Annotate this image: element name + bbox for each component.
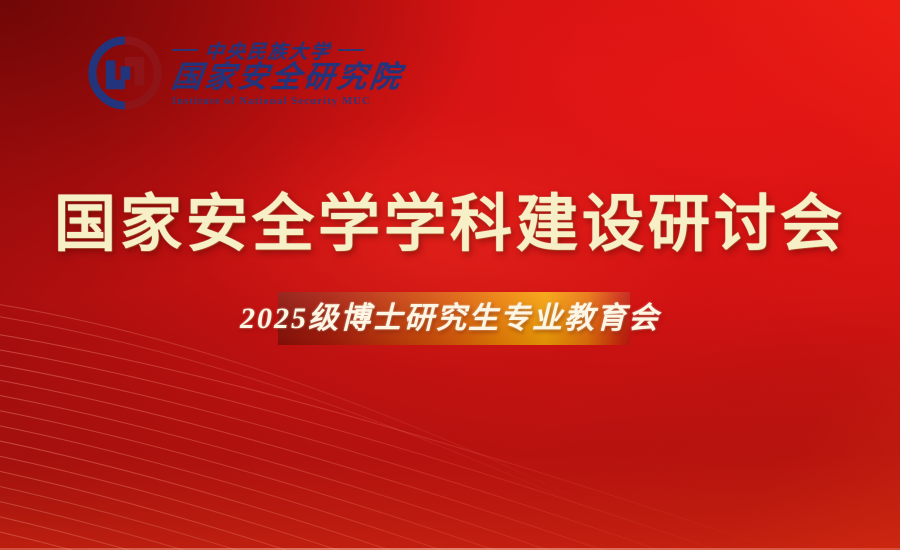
university-name-row: 中央民族大学 (172, 39, 403, 61)
rule-right-icon (338, 49, 364, 51)
institute-emblem-icon (88, 36, 162, 110)
poster-subtitle: 2025级博士研究生专业教育会 (0, 300, 900, 338)
poster-title: 国家安全学学科建设研讨会 (0, 193, 900, 258)
institute-name-english: Institute of National Security MUC (172, 96, 403, 107)
institute-name: 国家安全研究院 (170, 62, 405, 94)
poster-canvas: 中央民族大学 国家安全研究院 Institute of National Sec… (0, 0, 900, 550)
institute-logo: 中央民族大学 国家安全研究院 Institute of National Sec… (88, 36, 403, 110)
institute-logo-text: 中央民族大学 国家安全研究院 Institute of National Sec… (172, 39, 403, 107)
rule-left-icon (172, 49, 198, 51)
background-bottom-warm-glow (0, 340, 900, 550)
university-name: 中央民族大学 (204, 37, 333, 64)
